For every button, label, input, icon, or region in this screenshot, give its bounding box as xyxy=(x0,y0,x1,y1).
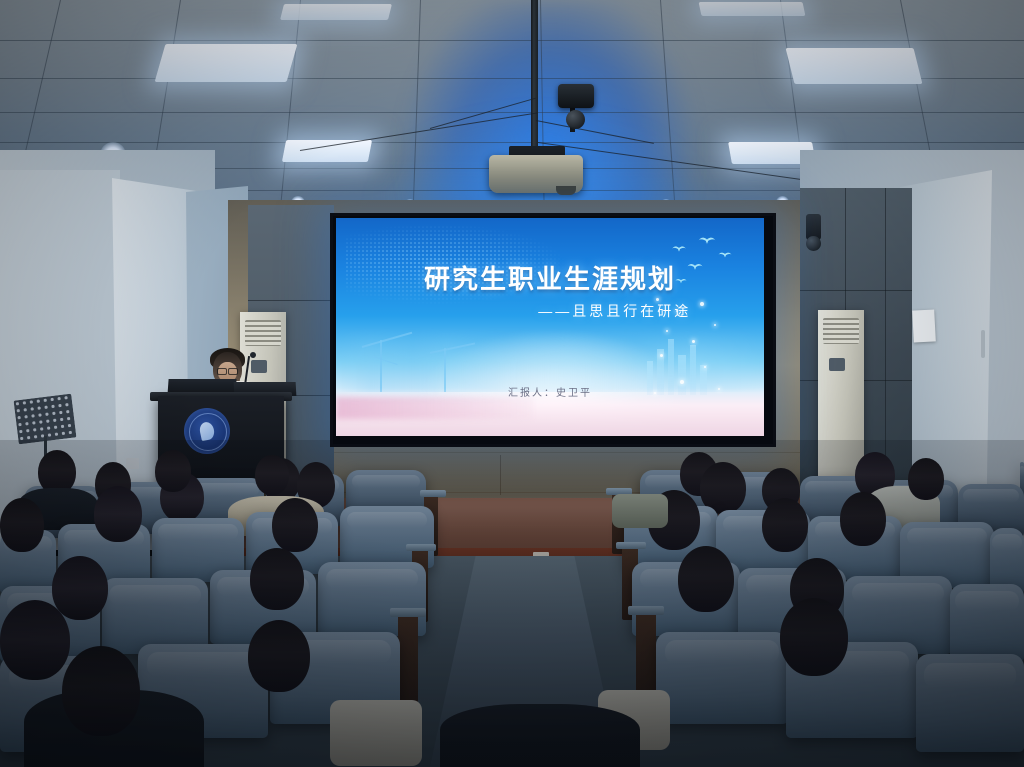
ceiling-grid-line xyxy=(0,112,1024,113)
seat[interactable] xyxy=(950,584,1024,662)
foreground-person-shoulders xyxy=(440,704,640,767)
wall-speaker-dome-icon xyxy=(806,236,821,251)
seat-side-panel-top xyxy=(628,606,664,615)
projector-mount-pole xyxy=(531,0,538,150)
ceiling-panel-light xyxy=(155,44,298,82)
slide-subtitle: ——且思且行在研途 xyxy=(336,301,764,321)
seat[interactable] xyxy=(656,632,788,724)
panel-seam xyxy=(885,188,886,488)
panel-seam xyxy=(800,290,912,291)
wall-notice-paper xyxy=(912,309,936,342)
audience-head xyxy=(780,598,848,676)
ac-display-icon xyxy=(829,358,845,371)
seat-side-panel-top xyxy=(616,542,646,549)
door-handle-icon[interactable] xyxy=(981,330,985,358)
audience-head xyxy=(678,546,734,612)
audience-head xyxy=(272,498,318,552)
panel-seam xyxy=(248,300,334,301)
audience-head xyxy=(908,458,944,500)
projector-lens-icon xyxy=(556,186,576,195)
audience-head xyxy=(52,556,108,620)
glasses-icon xyxy=(217,368,238,373)
audience-head xyxy=(248,620,310,692)
ceiling-panel-light xyxy=(280,4,392,20)
audience-head xyxy=(255,455,289,495)
seat[interactable] xyxy=(102,578,208,654)
seat-side-panel-top xyxy=(420,490,446,497)
ceiling-panel-light xyxy=(699,2,806,16)
ac-display-icon xyxy=(251,360,267,373)
ceiling-grid-line xyxy=(279,0,301,214)
tote-bag-icon xyxy=(330,700,422,766)
seat-side-panel-top xyxy=(406,544,436,551)
audience-head xyxy=(94,486,142,542)
audience-head xyxy=(0,600,70,680)
audience-head xyxy=(0,498,44,552)
slide-presenter: 汇报人：史卫平 xyxy=(336,384,764,399)
foreground-person-head xyxy=(62,646,140,736)
presentation-slide: 研究生职业生涯规划 ——且思且行在研途 汇报人：史卫平 xyxy=(336,218,764,436)
microphone-icon xyxy=(250,352,256,358)
ceiling-grid-line xyxy=(0,142,1024,143)
pink-light-streak-graphic xyxy=(336,397,533,419)
ceiling-panel-light xyxy=(282,140,372,162)
audience-head xyxy=(155,450,191,492)
slide-title: 研究生职业生涯规划 xyxy=(336,259,764,296)
auditorium-lecture-photo: 研究生职业生涯规划 ——且思且行在研途 汇报人：史卫平 xyxy=(0,0,1024,767)
backpack-icon xyxy=(612,494,668,528)
seat-side-panel xyxy=(398,614,418,704)
ceiling-grid-line xyxy=(0,40,1024,41)
ac-vent-icon xyxy=(823,318,859,344)
air-conditioner-right xyxy=(818,310,864,480)
audience-head xyxy=(840,492,886,546)
wall-seam xyxy=(500,455,501,495)
audience-head xyxy=(250,548,304,610)
audience-head xyxy=(762,498,808,552)
wall-socket-icon xyxy=(126,458,139,469)
seat[interactable] xyxy=(916,654,1024,752)
seat-side-panel-top xyxy=(390,608,426,617)
ac-vent-icon xyxy=(245,320,281,346)
ceiling-camera-icon xyxy=(558,84,594,108)
ceiling-panel-light xyxy=(786,48,923,84)
seat-side-panel xyxy=(636,612,656,702)
